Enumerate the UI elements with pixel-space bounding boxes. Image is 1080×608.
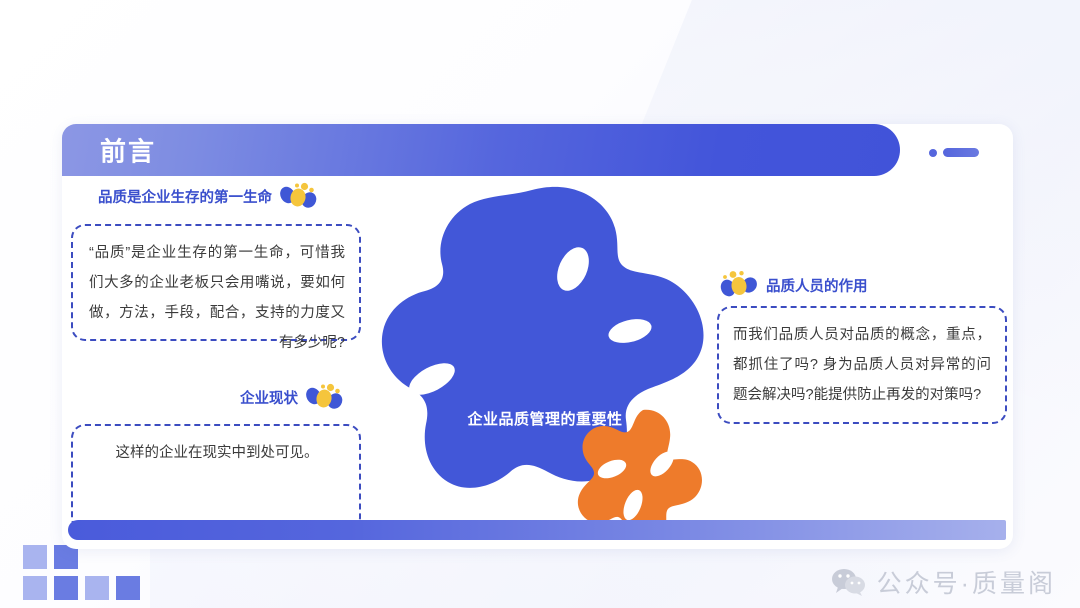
text-box-current: 这样的企业在现实中到处可见。 (71, 424, 361, 532)
text-box-body: “品质”是企业生存的第一生命，可惜我们大多的企业老板只会用嘴说，要如何做，方法，… (89, 238, 345, 358)
decorative-squares (23, 545, 133, 603)
slide-header-bar: 前言 (62, 124, 900, 176)
decor-square (85, 576, 109, 600)
watermark-text: 公众号·质量阁 (877, 564, 1056, 600)
blob-shape-icon (380, 184, 710, 544)
wechat-icon (831, 567, 865, 597)
decor-square (23, 545, 47, 569)
flower-cluster-icon (306, 382, 344, 412)
flower-cluster-icon (720, 270, 758, 300)
slide-canvas: 前言 品质是企业生存的第一生命 “品质”是企业生存的第一生命，可惜 (0, 0, 1080, 608)
text-box-body: 而我们品质人员对品质的概念，重点，都抓住了吗? 身为品质人员对异常的问题会解决吗… (733, 320, 991, 410)
slide-footer-bar (68, 520, 1006, 540)
section-heading-label: 品质是企业生存的第一生命 (98, 186, 272, 207)
page-title: 前言 (100, 132, 156, 169)
center-graphic-label: 企业品质管理的重要性 (380, 408, 710, 429)
section-heading-quality: 品质是企业生存的第一生命 (98, 181, 318, 211)
decor-square (23, 576, 47, 600)
flower-cluster-icon (280, 181, 318, 211)
slide-card: 前言 品质是企业生存的第一生命 “品质”是企业生存的第一生命，可惜 (62, 124, 1013, 549)
pill-bar-icon (943, 148, 979, 157)
decor-square (54, 576, 78, 600)
section-heading-label: 企业现状 (240, 387, 298, 408)
header-decor-group (929, 148, 979, 157)
circle-dot-icon (929, 149, 937, 157)
section-heading-role: 品质人员的作用 (720, 270, 868, 300)
decor-square (116, 576, 140, 600)
text-box-body: 这样的企业在现实中到处可见。 (89, 438, 345, 468)
text-box-quality: “品质”是企业生存的第一生命，可惜我们大多的企业老板只会用嘴说，要如何做，方法，… (71, 224, 361, 341)
section-heading-current: 企业现状 (240, 382, 344, 412)
watermark: 公众号·质量阁 (831, 564, 1056, 600)
section-heading-label: 品质人员的作用 (766, 275, 868, 296)
text-box-role: 而我们品质人员对品质的概念，重点，都抓住了吗? 身为品质人员对异常的问题会解决吗… (717, 306, 1007, 424)
flower-shape-icon (570, 406, 705, 536)
center-graphic: 企业品质管理的重要性 (380, 184, 710, 544)
